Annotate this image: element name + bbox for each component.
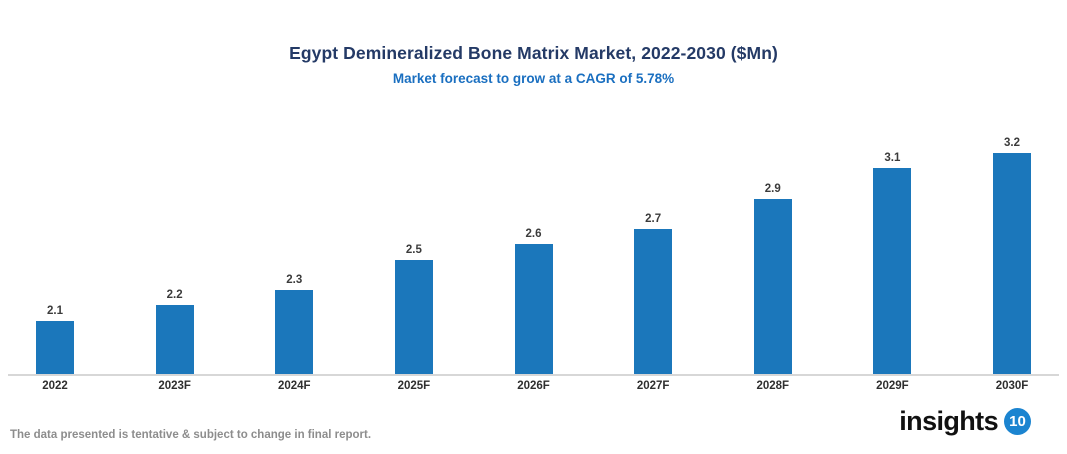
bar-rect[interactable]	[754, 199, 792, 374]
bar-rect[interactable]	[634, 229, 672, 374]
bar-rect[interactable]	[515, 244, 553, 374]
category-label: 2024F	[275, 380, 313, 392]
bar-group[interactable]: 3.2	[993, 110, 1031, 374]
bar-group[interactable]: 2.9	[754, 110, 792, 374]
disclaimer-text: The data presented is tentative & subjec…	[10, 429, 371, 441]
bar-value-label: 2.9	[765, 183, 781, 196]
category-label: 2028F	[754, 380, 792, 392]
bar-rect[interactable]	[873, 168, 911, 374]
chart-header: Egypt Demineralized Bone Matrix Market, …	[0, 42, 1067, 88]
category-label: 2030F	[993, 380, 1031, 392]
bar-value-label: 2.2	[167, 289, 183, 302]
logo-wordmark: insights	[899, 406, 998, 436]
bar-rect[interactable]	[395, 260, 433, 374]
chart-subtitle: Market forecast to grow at a CAGR of 5.7…	[0, 70, 1067, 88]
category-label: 2025F	[395, 380, 433, 392]
category-label: 2022	[36, 380, 74, 392]
bar-group[interactable]: 2.6	[515, 110, 553, 374]
category-axis-labels: 20222023F2024F2025F2026F2027F2028F2029F2…	[8, 380, 1059, 392]
chart-page: Egypt Demineralized Bone Matrix Market, …	[0, 0, 1067, 454]
bar-group[interactable]: 2.7	[634, 110, 672, 374]
chart-title: Egypt Demineralized Bone Matrix Market, …	[0, 42, 1067, 64]
bar-value-label: 2.5	[406, 244, 422, 257]
bar-value-label: 2.7	[645, 213, 661, 226]
category-label: 2029F	[873, 380, 911, 392]
bar-group[interactable]: 2.5	[395, 110, 433, 374]
plot-area: 2.12.22.32.52.62.72.93.13.2	[0, 110, 1067, 376]
bar-value-label: 2.3	[286, 274, 302, 287]
category-label: 2023F	[156, 380, 194, 392]
category-label: 2027F	[634, 380, 672, 392]
bar-rect[interactable]	[36, 321, 74, 374]
bar-group[interactable]: 2.2	[156, 110, 194, 374]
bar-value-label: 2.1	[47, 305, 63, 318]
bar-group[interactable]: 2.1	[36, 110, 74, 374]
bars-container: 2.12.22.32.52.62.72.93.13.2	[8, 110, 1059, 374]
bar-rect[interactable]	[156, 305, 194, 374]
insights10-logo: insights 10	[899, 406, 1031, 436]
logo-badge-icon: 10	[1004, 408, 1031, 435]
bar-group[interactable]: 3.1	[873, 110, 911, 374]
x-axis-line	[8, 374, 1059, 376]
bar-value-label: 3.1	[884, 152, 900, 165]
bar-rect[interactable]	[993, 153, 1031, 374]
category-label: 2026F	[515, 380, 553, 392]
bar-rect[interactable]	[275, 290, 313, 374]
bar-value-label: 3.2	[1004, 137, 1020, 150]
bar-group[interactable]: 2.3	[275, 110, 313, 374]
bar-value-label: 2.6	[526, 228, 542, 241]
